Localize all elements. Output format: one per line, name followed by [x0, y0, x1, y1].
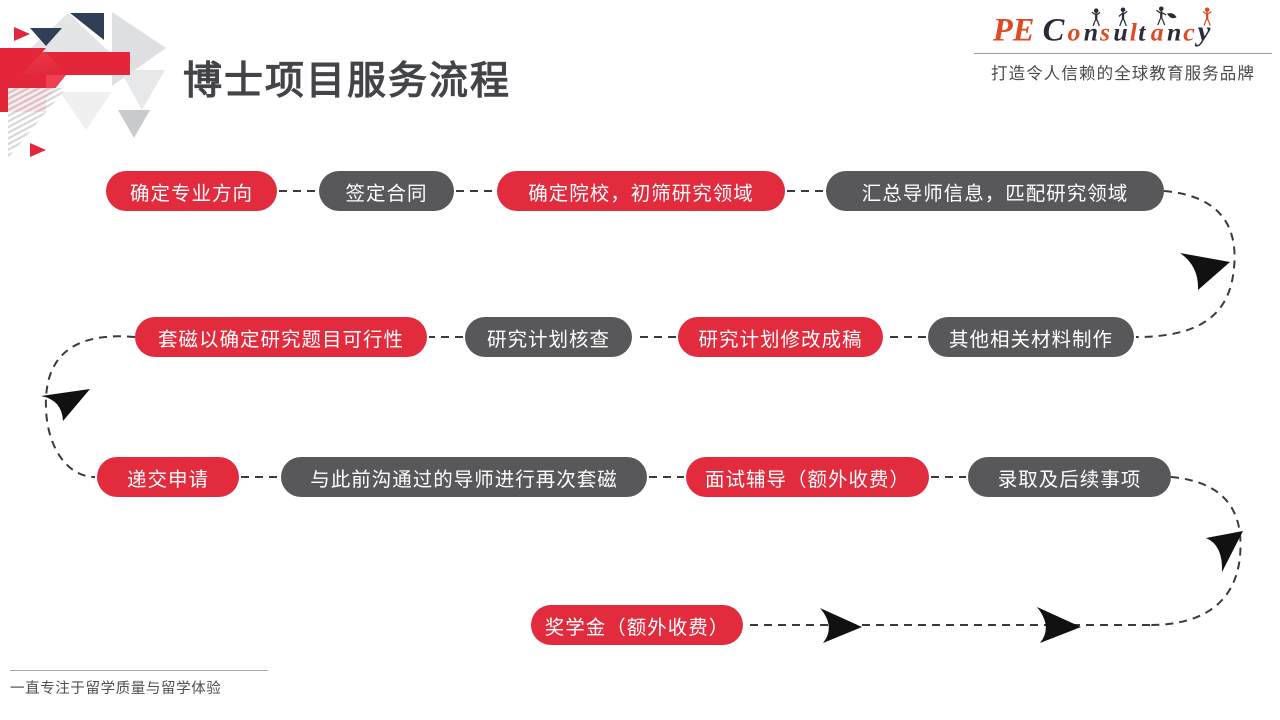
connector-turn-left-1	[46, 336, 135, 477]
svg-text:o: o	[1068, 17, 1081, 46]
slide-canvas: 博士项目服务流程 PE C o n s u l t a n c y	[0, 0, 1280, 720]
flow-step-label: 奖学金（额外收费）	[545, 611, 730, 640]
flow-step-label: 面试辅导（额外收费）	[705, 463, 910, 492]
svg-text:C: C	[1043, 12, 1065, 48]
flow-step-label: 其他相关材料制作	[949, 323, 1113, 352]
flow-step-label: 确定专业方向	[130, 177, 253, 206]
svg-text:n: n	[1167, 17, 1181, 46]
svg-text:s: s	[1099, 17, 1110, 46]
decorative-geometric-graphic	[0, 0, 175, 170]
arrow-left-bottom-1	[1037, 607, 1081, 643]
svg-text:t: t	[1138, 17, 1146, 46]
flow-step-row1-3[interactable]: 确定院校，初筛研究领域	[497, 171, 785, 211]
page-title: 博士项目服务流程	[183, 50, 511, 106]
svg-text:n: n	[1084, 17, 1098, 46]
logo-divider	[974, 53, 1272, 54]
flow-step-row2-3[interactable]: 研究计划修改成稿	[678, 317, 883, 357]
svg-text:a: a	[1151, 17, 1164, 46]
flow-step-row1-1[interactable]: 确定专业方向	[106, 171, 277, 211]
flow-step-label: 套磁以确定研究题目可行性	[158, 323, 404, 352]
connector-turn-right-1	[1136, 191, 1235, 337]
flow-step-label: 签定合同	[345, 177, 427, 206]
flow-step-label: 递交申请	[127, 463, 209, 492]
arrowheads	[41, 253, 1243, 643]
svg-text:u: u	[1113, 17, 1127, 46]
flow-step-row4-1[interactable]: 奖学金（额外收费）	[531, 605, 743, 645]
flow-step-label: 汇总导师信息，匹配研究领域	[862, 177, 1129, 206]
footer-divider	[10, 670, 268, 671]
arrow-down-left-end-row2	[41, 389, 90, 421]
svg-text:c: c	[1183, 17, 1195, 46]
flow-step-row2-2[interactable]: 研究计划核查	[465, 317, 632, 357]
flow-step-label: 研究计划修改成稿	[698, 323, 862, 352]
pe-consultancy-logo-icon: PE C o n s u l t a n c y	[974, 4, 1272, 48]
flow-step-row1-4[interactable]: 汇总导师信息，匹配研究领域	[826, 171, 1164, 211]
arrow-down-right-end-row3	[1206, 531, 1243, 572]
svg-text:l: l	[1130, 17, 1138, 46]
flow-step-label: 与此前沟通过的导师进行再次套磁	[310, 463, 618, 492]
footer-tagline: 一直专注于留学质量与留学体验	[10, 677, 268, 698]
flow-step-row1-2[interactable]: 签定合同	[319, 171, 454, 211]
footer-block: 一直专注于留学质量与留学体验	[10, 670, 268, 698]
flow-step-row2-4[interactable]: 其他相关材料制作	[928, 317, 1134, 357]
brand-tagline: 打造令人信赖的全球教育服务品牌	[974, 60, 1272, 84]
flow-step-row3-2[interactable]: 与此前沟通过的导师进行再次套磁	[281, 457, 647, 497]
flow-step-row2-1[interactable]: 套磁以确定研究题目可行性	[135, 317, 427, 357]
flow-step-label: 研究计划核查	[487, 323, 610, 352]
svg-text:PE: PE	[992, 12, 1035, 48]
brand-logo-block: PE C o n s u l t a n c y	[974, 4, 1272, 84]
flow-step-label: 录取及后续事项	[998, 463, 1142, 492]
arrow-left-bottom-2	[820, 608, 862, 643]
arrow-down-right-end-row1	[1180, 253, 1230, 290]
connector-turn-right-2	[1150, 477, 1241, 625]
flow-step-row3-4[interactable]: 录取及后续事项	[968, 457, 1171, 497]
flow-step-row3-1[interactable]: 递交申请	[97, 457, 239, 497]
flow-step-label: 确定院校，初筛研究领域	[528, 177, 754, 206]
flow-step-row3-3[interactable]: 面试辅导（额外收费）	[686, 457, 929, 497]
